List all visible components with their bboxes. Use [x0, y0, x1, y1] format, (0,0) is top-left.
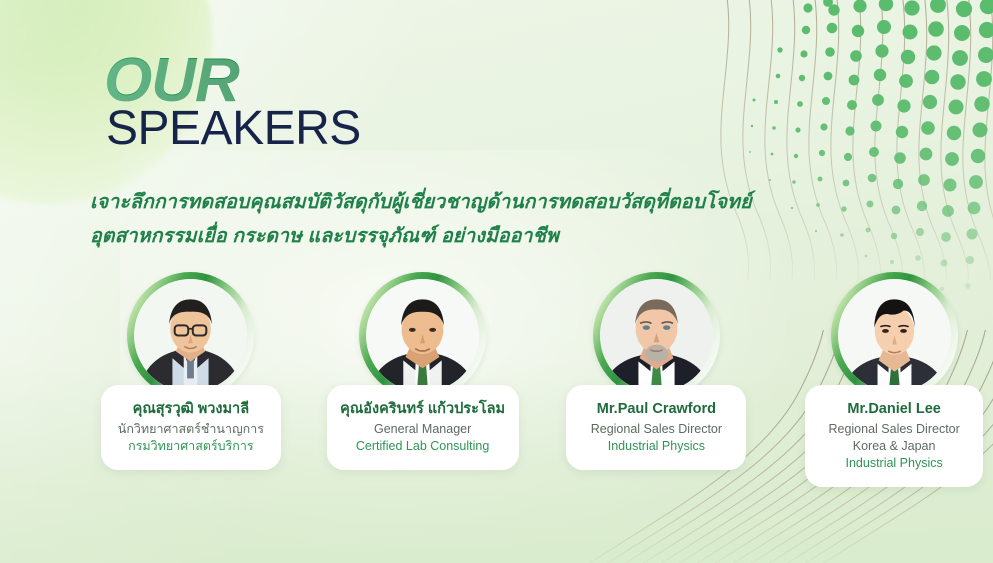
- avatar-ring: [831, 272, 958, 399]
- speaker-card[interactable]: Mr.Paul Crawford Regional Sales Director…: [558, 272, 756, 487]
- banner-stage: OUR SPEAKERS เจาะลึกการทดสอบคุณสมบัติวัส…: [0, 0, 993, 563]
- speaker-card[interactable]: คุณอังครินทร์ แก้วประโลม General Manager…: [324, 272, 522, 487]
- speaker-role-line: นักวิทยาศาสตร์ชำนาญการ: [111, 421, 271, 438]
- speaker-name: คุณอังครินทร์ แก้วประโลม: [337, 400, 509, 419]
- speaker-photo-angkarin: [366, 279, 479, 392]
- speaker-region-line: Korea & Japan: [815, 438, 973, 455]
- speaker-role-line: Regional Sales Director: [815, 421, 973, 438]
- title-speakers: SPEAKERS: [106, 105, 361, 154]
- speaker-org-line: Certified Lab Consulting: [337, 438, 509, 455]
- speaker-role-line: Regional Sales Director: [576, 421, 736, 438]
- speaker-card[interactable]: คุณสุรวุฒิ พวงมาลี นักวิทยาศาสตร์ชำนาญกา…: [92, 272, 290, 487]
- subtitle-line-1: เจาะลึกการทดสอบคุณสมบัติวัสดุกับผู้เชี่ย…: [90, 186, 890, 220]
- speaker-org-line: กรมวิทยาศาสตร์บริการ: [111, 438, 271, 455]
- speaker-card[interactable]: Mr.Daniel Lee Regional Sales Director Ko…: [795, 272, 993, 487]
- speaker-photo-daniel-lee: [838, 279, 951, 392]
- speaker-name: Mr.Daniel Lee: [815, 400, 973, 419]
- avatar-ring: [359, 272, 486, 399]
- speaker-info-card: คุณสุรวุฒิ พวงมาลี นักวิทยาศาสตร์ชำนาญกา…: [101, 385, 281, 470]
- speaker-info-card: Mr.Daniel Lee Regional Sales Director Ko…: [805, 385, 983, 487]
- speaker-list: คุณสุรวุฒิ พวงมาลี นักวิทยาศาสตร์ชำนาญกา…: [0, 272, 993, 487]
- speaker-role-line: General Manager: [337, 421, 509, 438]
- speaker-name: คุณสุรวุฒิ พวงมาลี: [111, 400, 271, 419]
- speaker-info-card: Mr.Paul Crawford Regional Sales Director…: [566, 385, 746, 470]
- speaker-name: Mr.Paul Crawford: [576, 400, 736, 419]
- speaker-photo-paul-crawford: [600, 279, 713, 392]
- speaker-photo-surawut: [134, 279, 247, 392]
- avatar-ring: [593, 272, 720, 399]
- subtitle: เจาะลึกการทดสอบคุณสมบัติวัสดุกับผู้เชี่ย…: [90, 186, 890, 253]
- subtitle-line-2: อุตสาหกรรมเยื่อ กระดาษ และบรรจุภัณฑ์ อย่…: [90, 220, 890, 254]
- speaker-info-card: คุณอังครินทร์ แก้วประโลม General Manager…: [327, 385, 519, 470]
- page-title: OUR SPEAKERS: [104, 52, 361, 154]
- title-our: OUR: [104, 52, 361, 109]
- speaker-org-line: Industrial Physics: [815, 455, 973, 472]
- avatar-ring: [127, 272, 254, 399]
- speaker-org-line: Industrial Physics: [576, 438, 736, 455]
